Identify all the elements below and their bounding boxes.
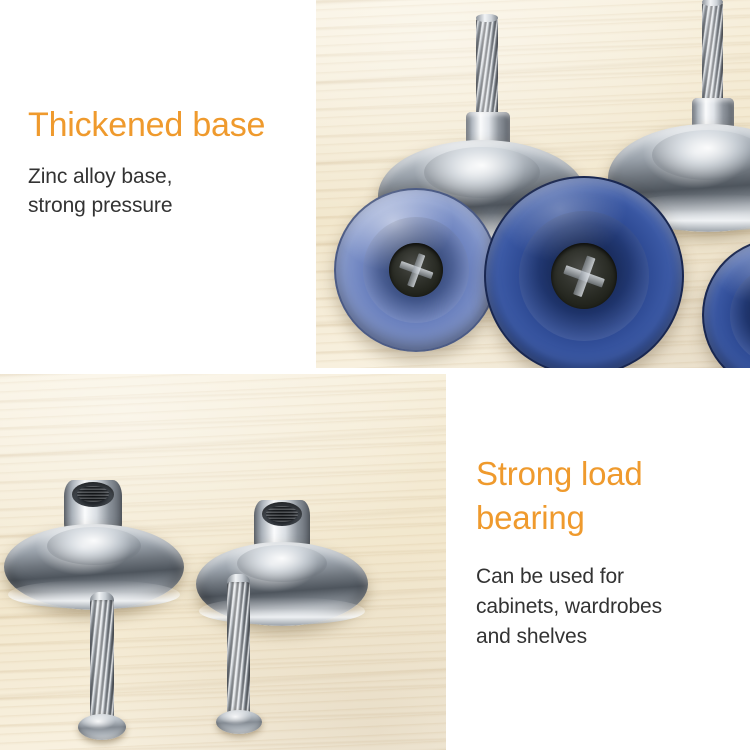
bolt-left [78, 592, 126, 750]
product-feature-image: Thickened base Zinc alloy base, strong p… [0, 0, 750, 750]
pad-recess [730, 266, 750, 365]
bolt-threaded-shank [90, 600, 114, 722]
blue-pad-large [484, 176, 684, 368]
pad-screw-hub [551, 243, 618, 310]
blue-pad-small [334, 188, 498, 352]
panel-strong-load-bearing: Strong load bearing Can be used for cabi… [0, 374, 750, 750]
bolt-head [216, 710, 262, 734]
card-strong-load-bearing: Strong load bearing Can be used for cabi… [446, 374, 750, 750]
base-inner-ring [47, 527, 141, 565]
panel-thickened-base: Thickened base Zinc alloy base, strong p… [0, 0, 750, 368]
bolt-right [216, 574, 262, 750]
bolt-head [78, 714, 126, 740]
base-inner-ring [424, 147, 540, 199]
pad-screw-hub [389, 243, 443, 297]
headline-thickened-base: Thickened base [28, 104, 316, 146]
base-inner-ring [652, 130, 750, 180]
phillips-screw-icon [394, 248, 437, 291]
photo-strong-load-bearing [0, 374, 446, 750]
phillips-screw-icon [558, 250, 611, 303]
subtext-strong-load-bearing: Can be used for cabinets, wardrobes and … [476, 562, 750, 652]
subtext-thickened-base: Zinc alloy base, strong pressure [28, 162, 316, 220]
bolt-threaded-shank [227, 582, 250, 718]
card-thickened-base: Thickened base Zinc alloy base, strong p… [0, 0, 316, 368]
bolt-shaft [476, 18, 498, 116]
socket-internal-threads [266, 506, 297, 522]
photo-thickened-base [316, 0, 750, 368]
bolt-shaft [702, 2, 723, 102]
headline-strong-load-bearing: Strong load bearing [476, 452, 750, 540]
bolt-shaft-tip [702, 0, 723, 6]
bolt-shaft-tip [476, 14, 498, 22]
